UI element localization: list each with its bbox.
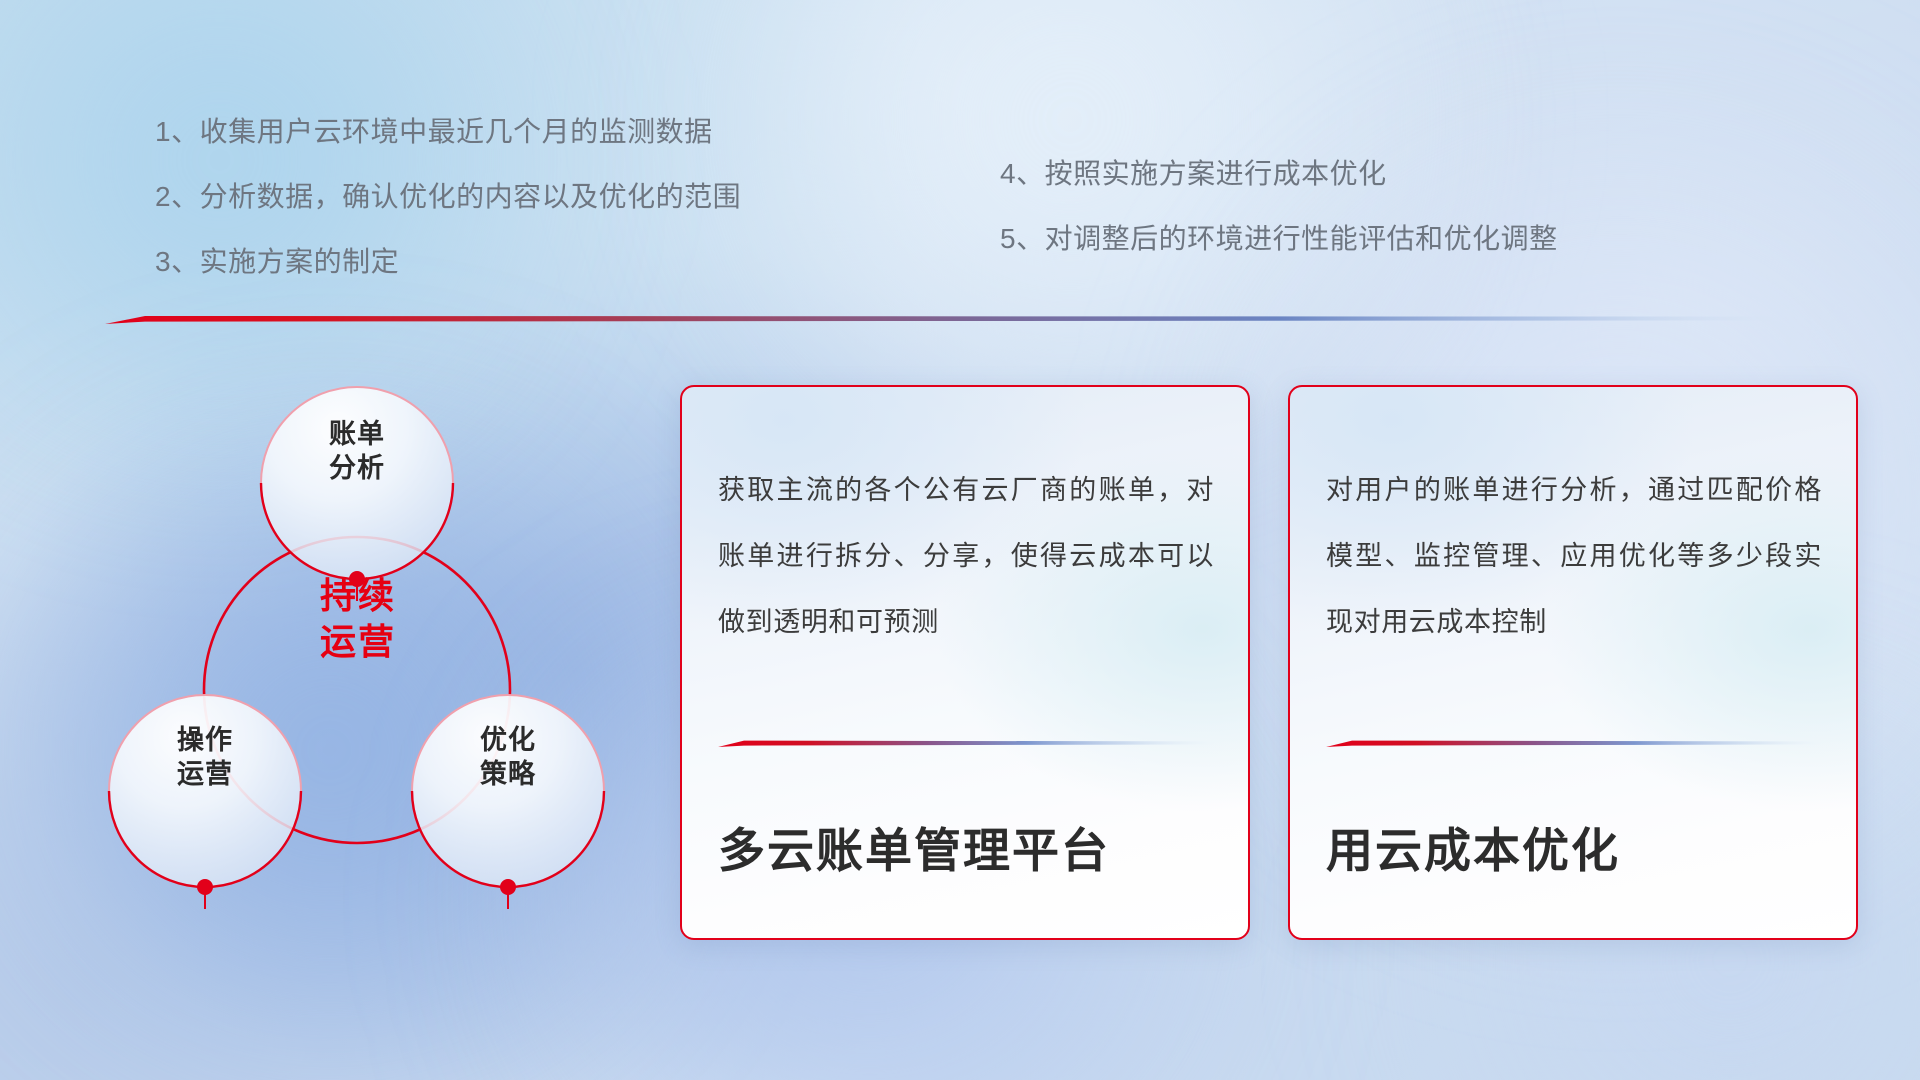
- card-body-text: 对用户的账单进行分析，通过匹配价格模型、监控管理、应用优化等多少段实现对用云成本…: [1326, 457, 1822, 655]
- card-title: 多云账单管理平台: [718, 812, 1224, 881]
- venn-label-bottom-right-line1: 优化: [443, 723, 573, 757]
- venn-diagram: 账单 分析 操作 运营 优化 策略 持续 运营: [95, 355, 615, 955]
- venn-node-bottom-left: [197, 879, 213, 895]
- venn-center-label-line1: 持续: [273, 573, 443, 619]
- section-divider: [105, 313, 1785, 324]
- step-item-5: 5、对调整后的环境进行性能评估和优化调整: [1000, 225, 1558, 253]
- step-item-1: 1、收集用户云环境中最近几个月的监测数据: [155, 118, 741, 146]
- venn-label-top-line2: 分析: [292, 451, 422, 485]
- step-item-4: 4、按照实施方案进行成本优化: [1000, 160, 1558, 188]
- card-title: 用云成本优化: [1326, 812, 1832, 881]
- venn-label-bottom-left: 操作 运营: [140, 723, 270, 791]
- venn-label-bottom-left-line1: 操作: [140, 723, 270, 757]
- venn-label-bottom-left-line2: 运营: [140, 757, 270, 791]
- venn-label-top: 账单 分析: [292, 417, 422, 485]
- venn-center-label-line2: 运营: [273, 619, 443, 665]
- card-accent-rule: [718, 739, 1216, 747]
- venn-label-top-line1: 账单: [292, 417, 422, 451]
- step-item-3: 3、实施方案的制定: [155, 248, 741, 276]
- steps-right-column: 4、按照实施方案进行成本优化 5、对调整后的环境进行性能评估和优化调整: [1000, 160, 1558, 290]
- venn-label-bottom-right: 优化 策略: [443, 723, 573, 791]
- card-accent-rule: [1326, 739, 1824, 747]
- steps-left-column: 1、收集用户云环境中最近几个月的监测数据 2、分析数据，确认优化的内容以及优化的…: [155, 118, 741, 313]
- feature-card-multicloud-billing[interactable]: 获取主流的各个公有云厂商的账单，对账单进行拆分、分享，使得云成本可以做到透明和可…: [680, 385, 1250, 940]
- card-body-text: 获取主流的各个公有云厂商的账单，对账单进行拆分、分享，使得云成本可以做到透明和可…: [718, 457, 1214, 655]
- venn-node-bottom-right: [500, 879, 516, 895]
- venn-label-bottom-right-line2: 策略: [443, 757, 573, 791]
- feature-card-cloud-cost-optimization[interactable]: 对用户的账单进行分析，通过匹配价格模型、监控管理、应用优化等多少段实现对用云成本…: [1288, 385, 1858, 940]
- step-item-2: 2、分析数据，确认优化的内容以及优化的范围: [155, 183, 741, 211]
- venn-center-label: 持续 运营: [273, 573, 443, 665]
